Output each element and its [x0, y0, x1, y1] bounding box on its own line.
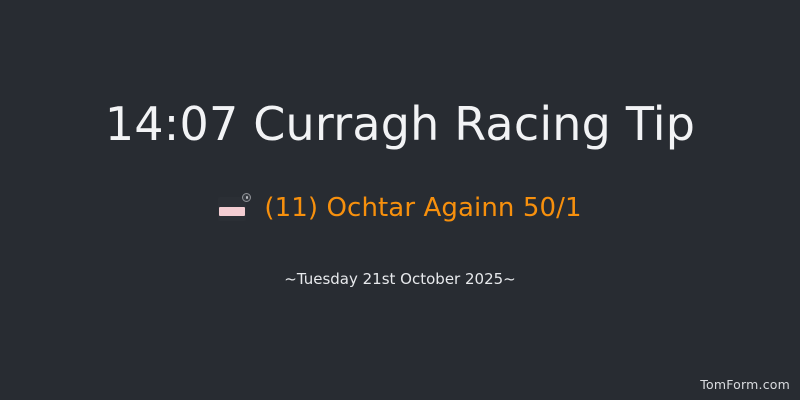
- jockey-silks-icon: [218, 193, 250, 223]
- race-date: ~Tuesday 21st October 2025~: [0, 269, 800, 289]
- racing-tip-card: 14:07 Curragh Racing Tip (11) Ochtar Aga…: [0, 0, 800, 400]
- silks-stripe-shape: [219, 207, 245, 216]
- site-watermark: TomForm.com: [700, 377, 790, 393]
- tip-selection-row[interactable]: (11) Ochtar Againn 50/1: [0, 190, 800, 226]
- tip-selection-label: (11) Ochtar Againn 50/1: [264, 192, 581, 224]
- page-title: 14:07 Curragh Racing Tip: [0, 97, 800, 151]
- silks-cap-icon: [242, 193, 251, 202]
